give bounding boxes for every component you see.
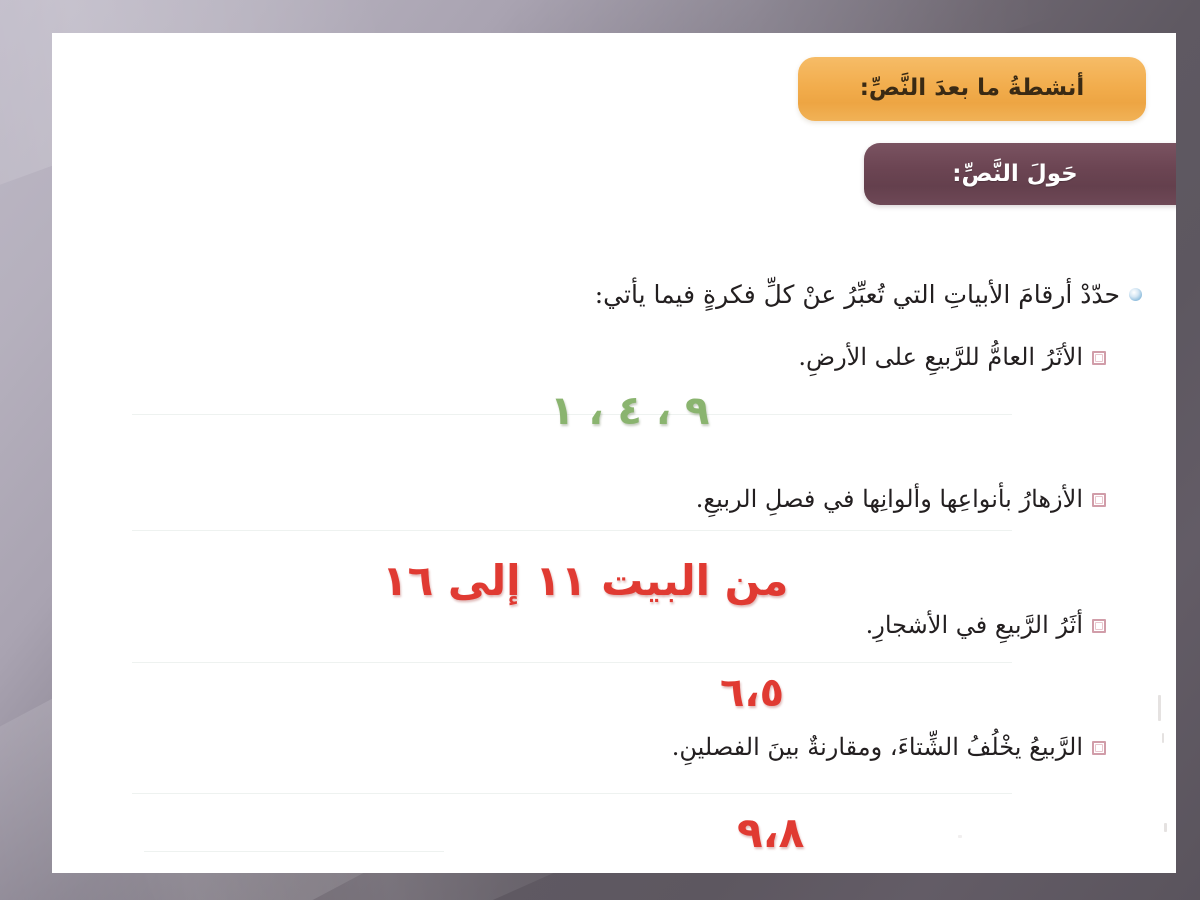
annotation-answer-item-4: ٩،٨: [737, 808, 804, 857]
scan-speck: [1162, 733, 1164, 743]
annotation-answer-item-1: ٩ ، ٤ ، ١: [550, 388, 709, 434]
paper-rule-line: [132, 662, 1012, 663]
annotation-answer-item-3: ٦،٥: [720, 670, 784, 716]
activity-header-label: أنشطةُ ما بعدَ النَّصِّ:: [860, 75, 1085, 101]
question-item-2: الأزهارُ بأنواعِها وألوانِها في فصلِ الر…: [696, 485, 1106, 513]
section-header-badge: حَولَ النَّصِّ:: [864, 143, 1176, 205]
question-item-4: الرَّبيعُ يخْلُفُ الشِّتاءَ، ومقارنةٌ بي…: [672, 733, 1106, 761]
question-item-3: أثَرُ الرَّبيعِ في الأشجارِ.: [866, 611, 1106, 639]
pink-square-bullet-icon: [1092, 619, 1106, 633]
question-item-3-text: أثَرُ الرَّبيعِ في الأشجارِ.: [866, 611, 1083, 639]
scan-speck: [1164, 823, 1167, 832]
scan-speck: [1158, 695, 1161, 721]
annotation-answer-item-2: من البيت ١١ إلى ١٦: [382, 556, 788, 605]
main-question-line: حدّدْ أرقامَ الأبياتِ التي تُعبِّرُ عنْ …: [595, 280, 1142, 309]
scanned-page: أنشطةُ ما بعدَ النَّصِّ: حَولَ النَّصِّ:…: [52, 33, 1176, 873]
paper-rule-line: [132, 793, 1012, 794]
paper-rule-line: [132, 530, 1012, 531]
question-item-1-text: الأثَرُ العامُّ للرَّبيعِ على الأرضِ.: [798, 343, 1083, 371]
section-header-label: حَولَ النَّصِّ:: [952, 161, 1077, 187]
question-item-1: الأثَرُ العامُّ للرَّبيعِ على الأرضِ.: [798, 343, 1106, 371]
question-item-2-text: الأزهارُ بأنواعِها وألوانِها في فصلِ الر…: [696, 485, 1083, 513]
slide-canvas: أنشطةُ ما بعدَ النَّصِّ: حَولَ النَّصِّ:…: [0, 0, 1200, 900]
blue-dot-bullet-icon: [1129, 288, 1142, 301]
main-question-text: حدّدْ أرقامَ الأبياتِ التي تُعبِّرُ عنْ …: [595, 280, 1120, 309]
activity-header-badge: أنشطةُ ما بعدَ النَّصِّ:: [798, 57, 1146, 121]
question-item-4-text: الرَّبيعُ يخْلُفُ الشِّتاءَ، ومقارنةٌ بي…: [672, 733, 1083, 761]
pink-square-bullet-icon: [1092, 351, 1106, 365]
paper-rule-line: [144, 851, 444, 852]
pink-square-bullet-icon: [1092, 493, 1106, 507]
pink-square-bullet-icon: [1092, 741, 1106, 755]
scan-speck: [958, 835, 962, 838]
